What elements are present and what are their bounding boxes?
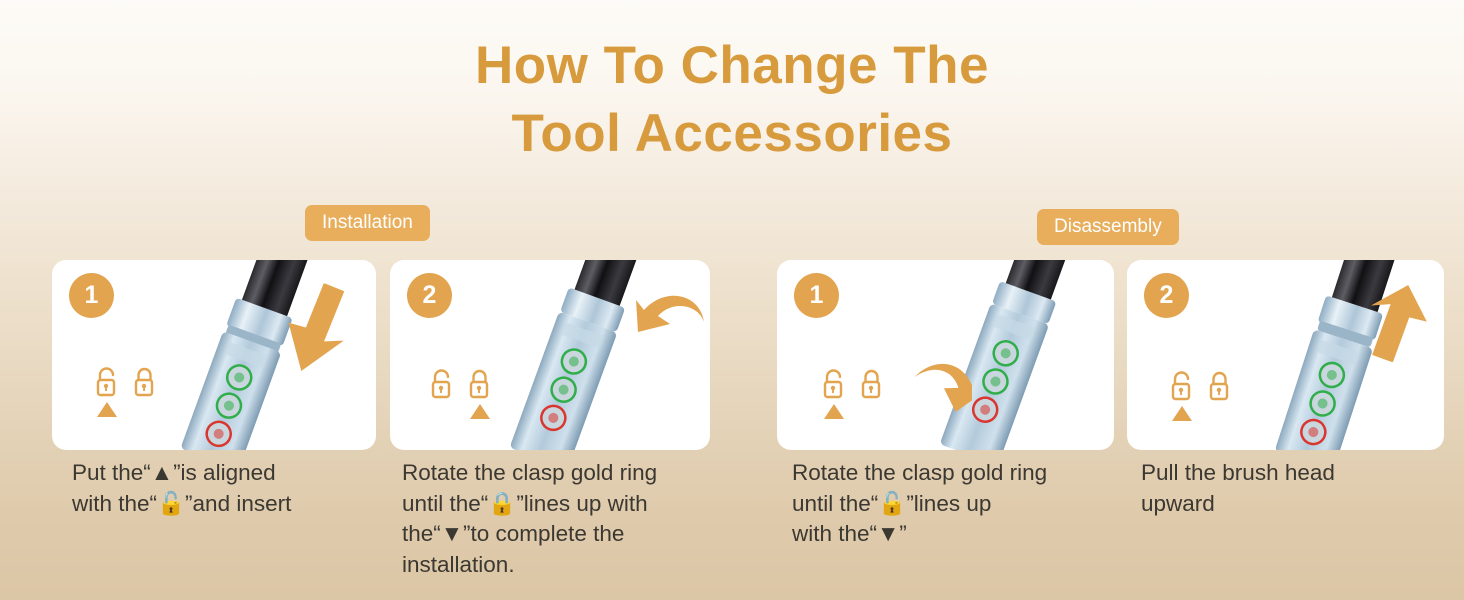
step-caption-install-2: Rotate the clasp gold ring until the“🔒”l… [402, 458, 714, 580]
marker-slot-left [1163, 406, 1201, 421]
lock-slot-right [1201, 370, 1239, 402]
lock-slot-right [461, 368, 499, 400]
lock-legend [423, 368, 499, 419]
marker-slot-right [126, 402, 164, 417]
step-card-install-1: 1 [52, 260, 376, 450]
triangle-up-icon [470, 404, 490, 419]
marker-slot-left [815, 404, 853, 419]
alignment-marker-row [88, 402, 164, 417]
triangle-up-icon [1172, 406, 1192, 421]
marker-slot-left [423, 404, 461, 419]
arrow-curved-up-right-icon [902, 356, 972, 418]
step-caption-disassemble-1: Rotate the clasp gold ring until the“🔓”l… [792, 458, 1102, 550]
marker-slot-right [461, 404, 499, 419]
lock-slot-left [1163, 370, 1201, 402]
step-caption-install-1: Put the“▲”is aligned with the“🔓”and inse… [72, 458, 372, 519]
locked-lock-icon [467, 368, 493, 400]
marker-slot-right [853, 404, 891, 419]
lock-slot-left [423, 368, 461, 400]
alignment-marker-row [815, 404, 891, 419]
device-illustration [157, 260, 357, 450]
arrow-down-right-icon [284, 283, 356, 377]
device-illustration [907, 260, 1114, 450]
unlocked-lock-icon [429, 368, 455, 400]
marker-slot-right [1201, 406, 1239, 421]
lock-legend [1163, 370, 1239, 421]
step-card-install-2: 2 [390, 260, 710, 450]
arrow-curved-left-icon [636, 292, 708, 356]
lock-row [423, 368, 499, 400]
lock-slot-left [88, 366, 126, 398]
step-number-badge: 2 [407, 273, 452, 318]
lock-row [815, 368, 891, 400]
locked-lock-icon [1207, 370, 1233, 402]
triangle-up-icon [824, 404, 844, 419]
device-illustration [1239, 260, 1444, 450]
unlocked-lock-icon [821, 368, 847, 400]
unlocked-lock-icon [1169, 370, 1195, 402]
arrow-up-icon [1355, 276, 1431, 362]
lock-slot-right [126, 366, 164, 398]
step-number-badge: 2 [1144, 273, 1189, 318]
lock-row [1163, 370, 1239, 402]
alignment-marker-row [1163, 406, 1239, 421]
lock-slot-right [853, 368, 891, 400]
step-card-disassemble-2: 2 [1127, 260, 1444, 450]
alignment-marker-row [423, 404, 499, 419]
step-caption-disassemble-2: Pull the brush head upward [1141, 458, 1441, 519]
triangle-up-icon [97, 402, 117, 417]
step-card-disassemble-1: 1 [777, 260, 1114, 450]
locked-lock-icon [132, 366, 158, 398]
lock-legend [88, 366, 164, 417]
lock-legend [815, 368, 891, 419]
unlocked-lock-icon [94, 366, 120, 398]
step-number-badge: 1 [794, 273, 839, 318]
device-illustration [478, 260, 688, 450]
lock-slot-left [815, 368, 853, 400]
marker-slot-left [88, 402, 126, 417]
lock-row [88, 366, 164, 398]
locked-lock-icon [859, 368, 885, 400]
step-number-badge: 1 [69, 273, 114, 318]
